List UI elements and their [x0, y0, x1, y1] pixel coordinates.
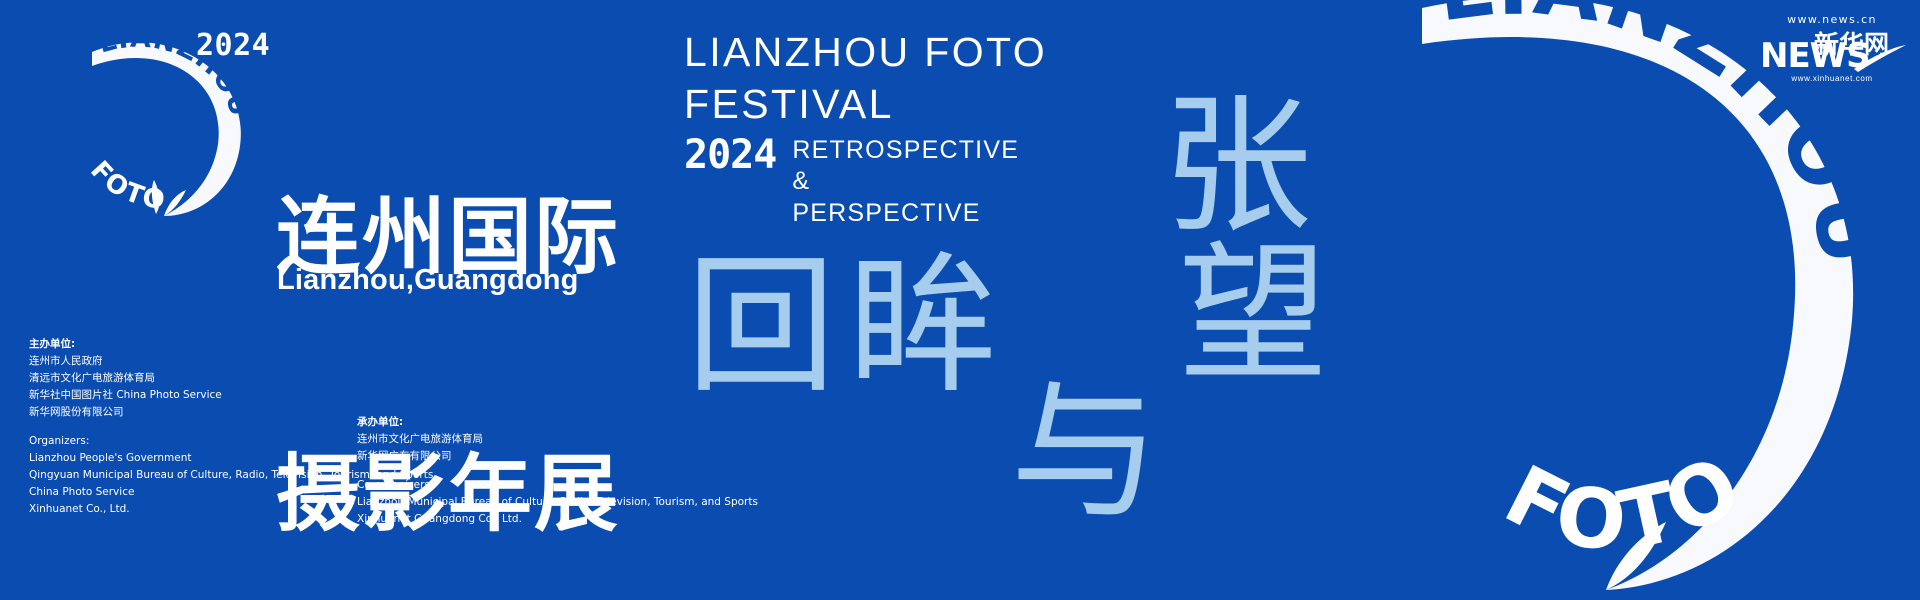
- coorganizers-en-heading: Co-organizers:: [357, 477, 758, 494]
- coorganizers-en-line: Xinhuanet Guangdong Co., Ltd.: [357, 511, 758, 528]
- organizers-cjk-line: 清远市文化广电旅游体育局: [29, 370, 433, 387]
- coorganizers-en-line: Lianzhou Municipal Bureau of Culture, Ra…: [357, 494, 758, 511]
- credits-section: 主办单位: 连州市人民政府 清远市文化广电旅游体育局 新华社中国图片社 Chin…: [0, 0, 1920, 600]
- organizers-cjk-line: 连州市人民政府: [29, 353, 433, 370]
- coorganizers-cjk-line: 新华网广东有限公司: [357, 448, 758, 465]
- organizers-cjk-block: 主办单位: 连州市人民政府 清远市文化广电旅游体育局 新华社中国图片社 Chin…: [29, 336, 433, 421]
- organizers-cjk-heading: 主办单位:: [29, 336, 433, 353]
- coorganizers-cjk-line: 连州市文化广电旅游体育局: [357, 431, 758, 448]
- festival-poster: LIANZHOU FOTO 2024 连州国际 摄影年展 Lianzhou,Gu…: [0, 0, 1920, 600]
- credits-column-coorganizers: 承办单位: 连州市文化广电旅游体育局 新华网广东有限公司 Co-organize…: [357, 414, 758, 540]
- organizers-cjk-line: 新华社中国图片社 China Photo Service: [29, 387, 433, 404]
- coorganizers-cjk-heading: 承办单位:: [357, 414, 758, 431]
- coorganizers-cjk-block: 承办单位: 连州市文化广电旅游体育局 新华网广东有限公司: [357, 414, 758, 465]
- coorganizers-en-block: Co-organizers: Lianzhou Municipal Bureau…: [357, 477, 758, 528]
